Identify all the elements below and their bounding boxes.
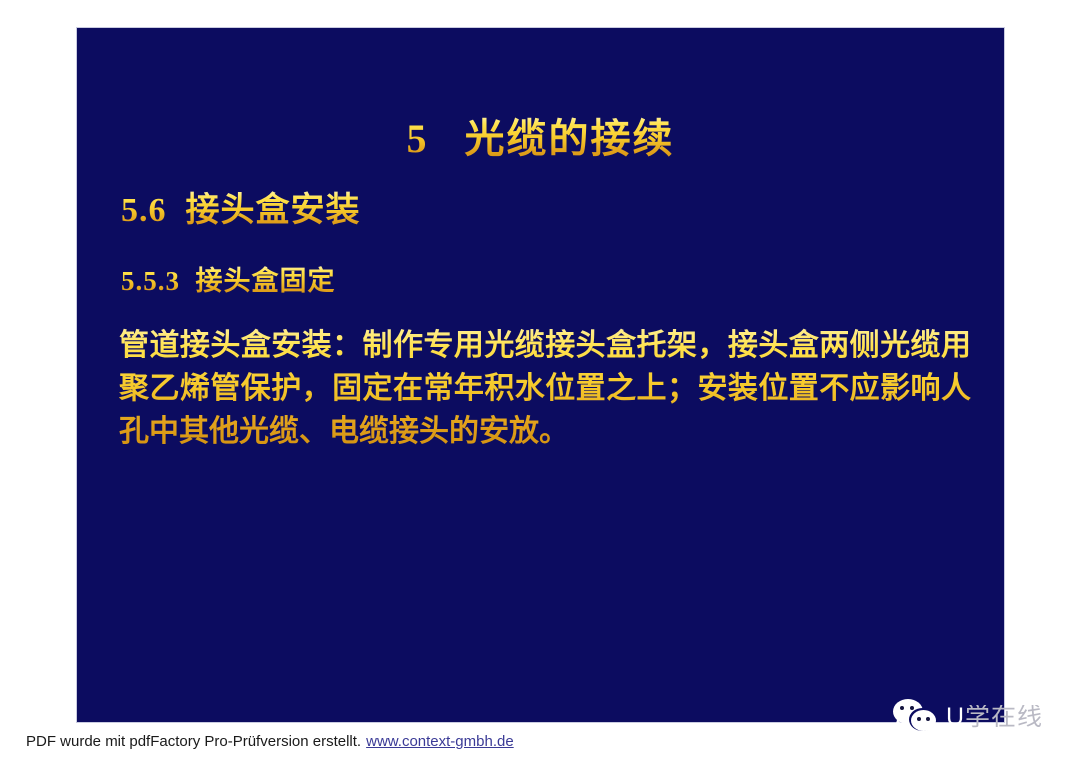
section-heading-5-5-3: 5.5.3 接头盒固定	[121, 266, 336, 297]
footer-notice-text: PDF wurde mit pdfFactory Pro-Prüfversion…	[26, 733, 361, 750]
footer-website-link[interactable]: www.context-gmbh.de	[366, 733, 514, 750]
page-canvas: 5 光缆的接续 5.6 接头盒安装 5.5.3 接头盒固定 管道接头盒安装：制作…	[0, 0, 1080, 763]
presentation-slide: 5 光缆的接续 5.6 接头盒安装 5.5.3 接头盒固定 管道接头盒安装：制作…	[76, 27, 1005, 723]
pdf-footer-notice: PDF wurde mit pdfFactory Pro-Prüfversion…	[26, 733, 514, 750]
slide-title: 5 光缆的接续	[77, 116, 1004, 162]
section-heading-5-6: 5.6 接头盒安装	[121, 191, 361, 230]
slide-body-paragraph: 管道接头盒安装：制作专用光缆接头盒托架，接头盒两侧光缆用聚乙烯管保护，固定在常年…	[119, 324, 971, 453]
